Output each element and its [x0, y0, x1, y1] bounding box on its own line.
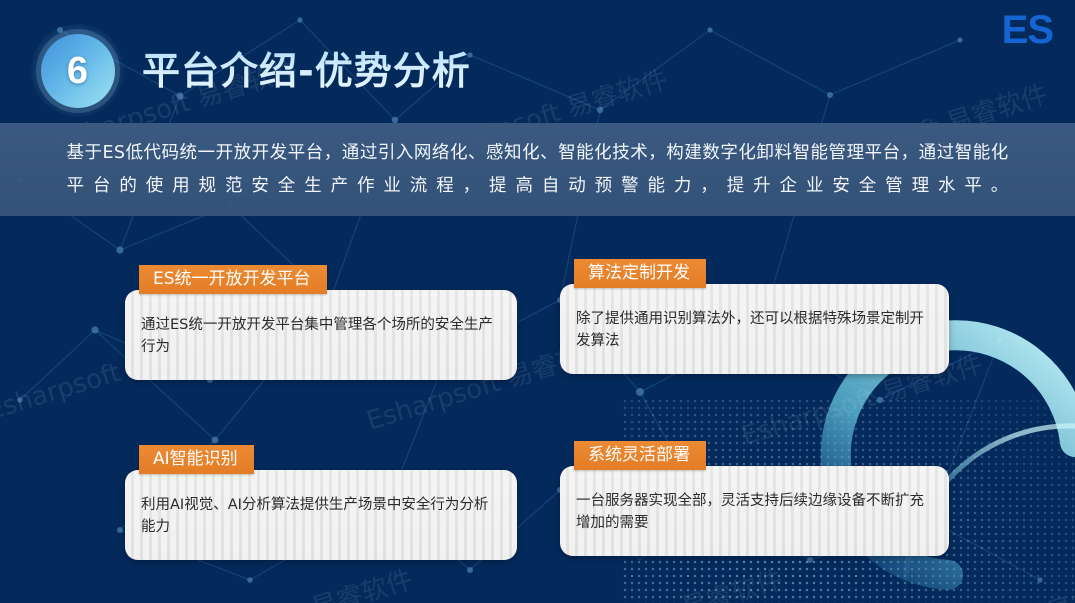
advantage-card-1-title: ES统一开放开发平台 — [139, 265, 327, 294]
advantage-card-2-title: 算法定制开发 — [574, 259, 706, 288]
advantage-card-1-text: 通过ES统一开放开发平台集中管理各个场所的安全生产行为 — [141, 314, 501, 358]
advantage-card-3-title: AI智能识别 — [139, 445, 254, 474]
advantage-card-2-body: 除了提供通用识别算法外，还可以根据特殊场景定制开发算法 — [560, 284, 949, 374]
slide-number: 6 — [67, 52, 88, 90]
slide-number-badge-inner: 6 — [41, 34, 115, 108]
es-logo: ES — [1002, 10, 1053, 50]
advantage-card-3-body: 利用AI视觉、AI分析算法提供生产场景中安全行为分析能力 — [125, 470, 517, 560]
slide: Esharpsoft 易睿软件 Esharpsoft 易睿软件 Esharpso… — [0, 0, 1075, 603]
description-text: 基于ES低代码统一开放开发平台，通过引入网络化、感知化、智能化技术，构建数字化卸… — [67, 137, 1009, 203]
advantage-card-4-text: 一台服务器实现全部，灵活支持后续边缘设备不断扩充增加的需要 — [576, 490, 933, 534]
page-title: 平台介绍-优势分析 — [142, 40, 471, 95]
advantage-card-3-text: 利用AI视觉、AI分析算法提供生产场景中安全行为分析能力 — [141, 494, 501, 538]
advantage-card-2-text: 除了提供通用识别算法外，还可以根据特殊场景定制开发算法 — [576, 308, 933, 352]
advantage-card-4-title: 系统灵活部署 — [574, 441, 706, 470]
svg-text:Esharpsoft 易睿软件: Esharpsoft 易睿软件 — [903, 570, 1075, 603]
slide-number-badge: 6 — [31, 24, 124, 117]
description-banner: 基于ES低代码统一开放开发平台，通过引入网络化、感知化、智能化技术，构建数字化卸… — [0, 123, 1075, 216]
advantage-card-1-body: 通过ES统一开放开发平台集中管理各个场所的安全生产行为 — [125, 290, 517, 380]
svg-text:Esharpsoft 易睿软件: Esharpsoft 易睿软件 — [168, 565, 416, 603]
svg-text:Esharpsoft 易睿软件: Esharpsoft 易睿软件 — [538, 565, 786, 603]
advantage-card-4-body: 一台服务器实现全部，灵活支持后续边缘设备不断扩充增加的需要 — [560, 466, 949, 556]
